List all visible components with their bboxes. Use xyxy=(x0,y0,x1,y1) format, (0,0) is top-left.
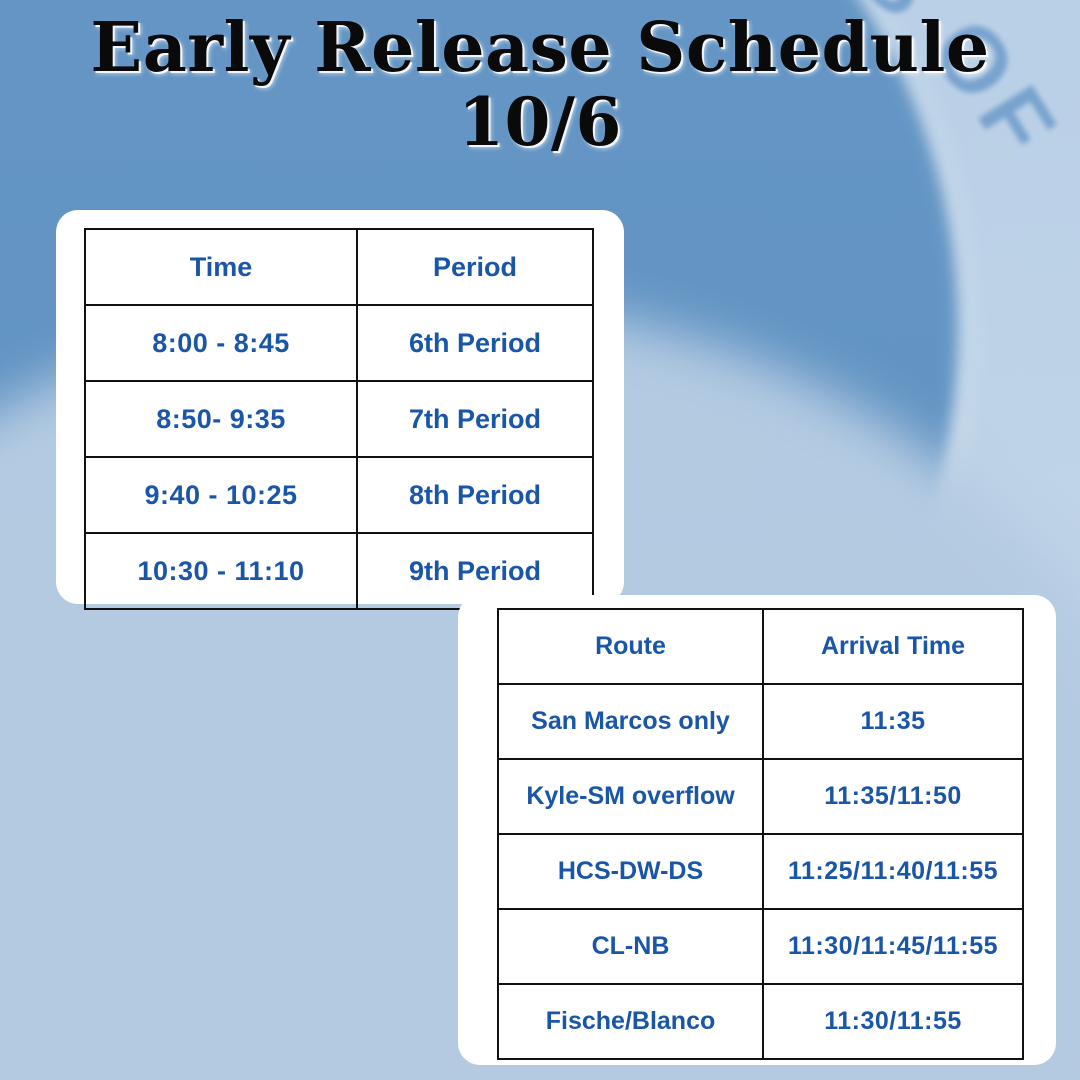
schedule-time-2: 8:50- 9:35 xyxy=(85,381,357,457)
poster-title: Early Release Schedule 10/6 xyxy=(0,14,1080,157)
bus-route-2: Kyle-SM overflow xyxy=(498,759,763,834)
schedule-header-time: Time xyxy=(85,229,357,305)
table-row: Kyle-SM overflow 11:35/11:50 xyxy=(498,759,1023,834)
bus-route-table: Route Arrival Time San Marcos only 11:35… xyxy=(497,608,1024,1060)
bus-arrival-2: 11:35/11:50 xyxy=(763,759,1023,834)
table-row: San Marcos only 11:35 xyxy=(498,684,1023,759)
table-row: 9:40 - 10:25 8th Period xyxy=(85,457,593,533)
title-line-primary: Early Release Schedule xyxy=(0,14,1080,83)
bus-route-card: Route Arrival Time San Marcos only 11:35… xyxy=(458,595,1056,1065)
bus-route-5: Fische/Blanco xyxy=(498,984,763,1059)
bus-arrival-3: 11:25/11:40/11:55 xyxy=(763,834,1023,909)
schedule-period-2: 7th Period xyxy=(357,381,593,457)
bus-arrival-4: 11:30/11:45/11:55 xyxy=(763,909,1023,984)
schedule-period-1: 6th Period xyxy=(357,305,593,381)
bus-arrival-1: 11:35 xyxy=(763,684,1023,759)
schedule-period-3: 8th Period xyxy=(357,457,593,533)
poster-canvas: HILL COUNTRY DRAGONS OF Early Release Sc… xyxy=(0,0,1080,1080)
table-row: 8:00 - 8:45 6th Period xyxy=(85,305,593,381)
bus-header-route: Route xyxy=(498,609,763,684)
bus-arrival-5: 11:30/11:55 xyxy=(763,984,1023,1059)
table-row: HCS-DW-DS 11:25/11:40/11:55 xyxy=(498,834,1023,909)
schedule-card: Time Period 8:00 - 8:45 6th Period 8:50-… xyxy=(56,210,624,604)
schedule-table: Time Period 8:00 - 8:45 6th Period 8:50-… xyxy=(84,228,594,610)
bus-route-1: San Marcos only xyxy=(498,684,763,759)
table-row: Fische/Blanco 11:30/11:55 xyxy=(498,984,1023,1059)
schedule-time-4: 10:30 - 11:10 xyxy=(85,533,357,609)
table-row: CL-NB 11:30/11:45/11:55 xyxy=(498,909,1023,984)
schedule-header-period: Period xyxy=(357,229,593,305)
table-row: 8:50- 9:35 7th Period xyxy=(85,381,593,457)
title-line-date: 10/6 xyxy=(0,89,1080,156)
table-header-row: Route Arrival Time xyxy=(498,609,1023,684)
table-header-row: Time Period xyxy=(85,229,593,305)
schedule-time-3: 9:40 - 10:25 xyxy=(85,457,357,533)
bus-header-arrival: Arrival Time xyxy=(763,609,1023,684)
bus-route-4: CL-NB xyxy=(498,909,763,984)
bus-route-3: HCS-DW-DS xyxy=(498,834,763,909)
schedule-time-1: 8:00 - 8:45 xyxy=(85,305,357,381)
